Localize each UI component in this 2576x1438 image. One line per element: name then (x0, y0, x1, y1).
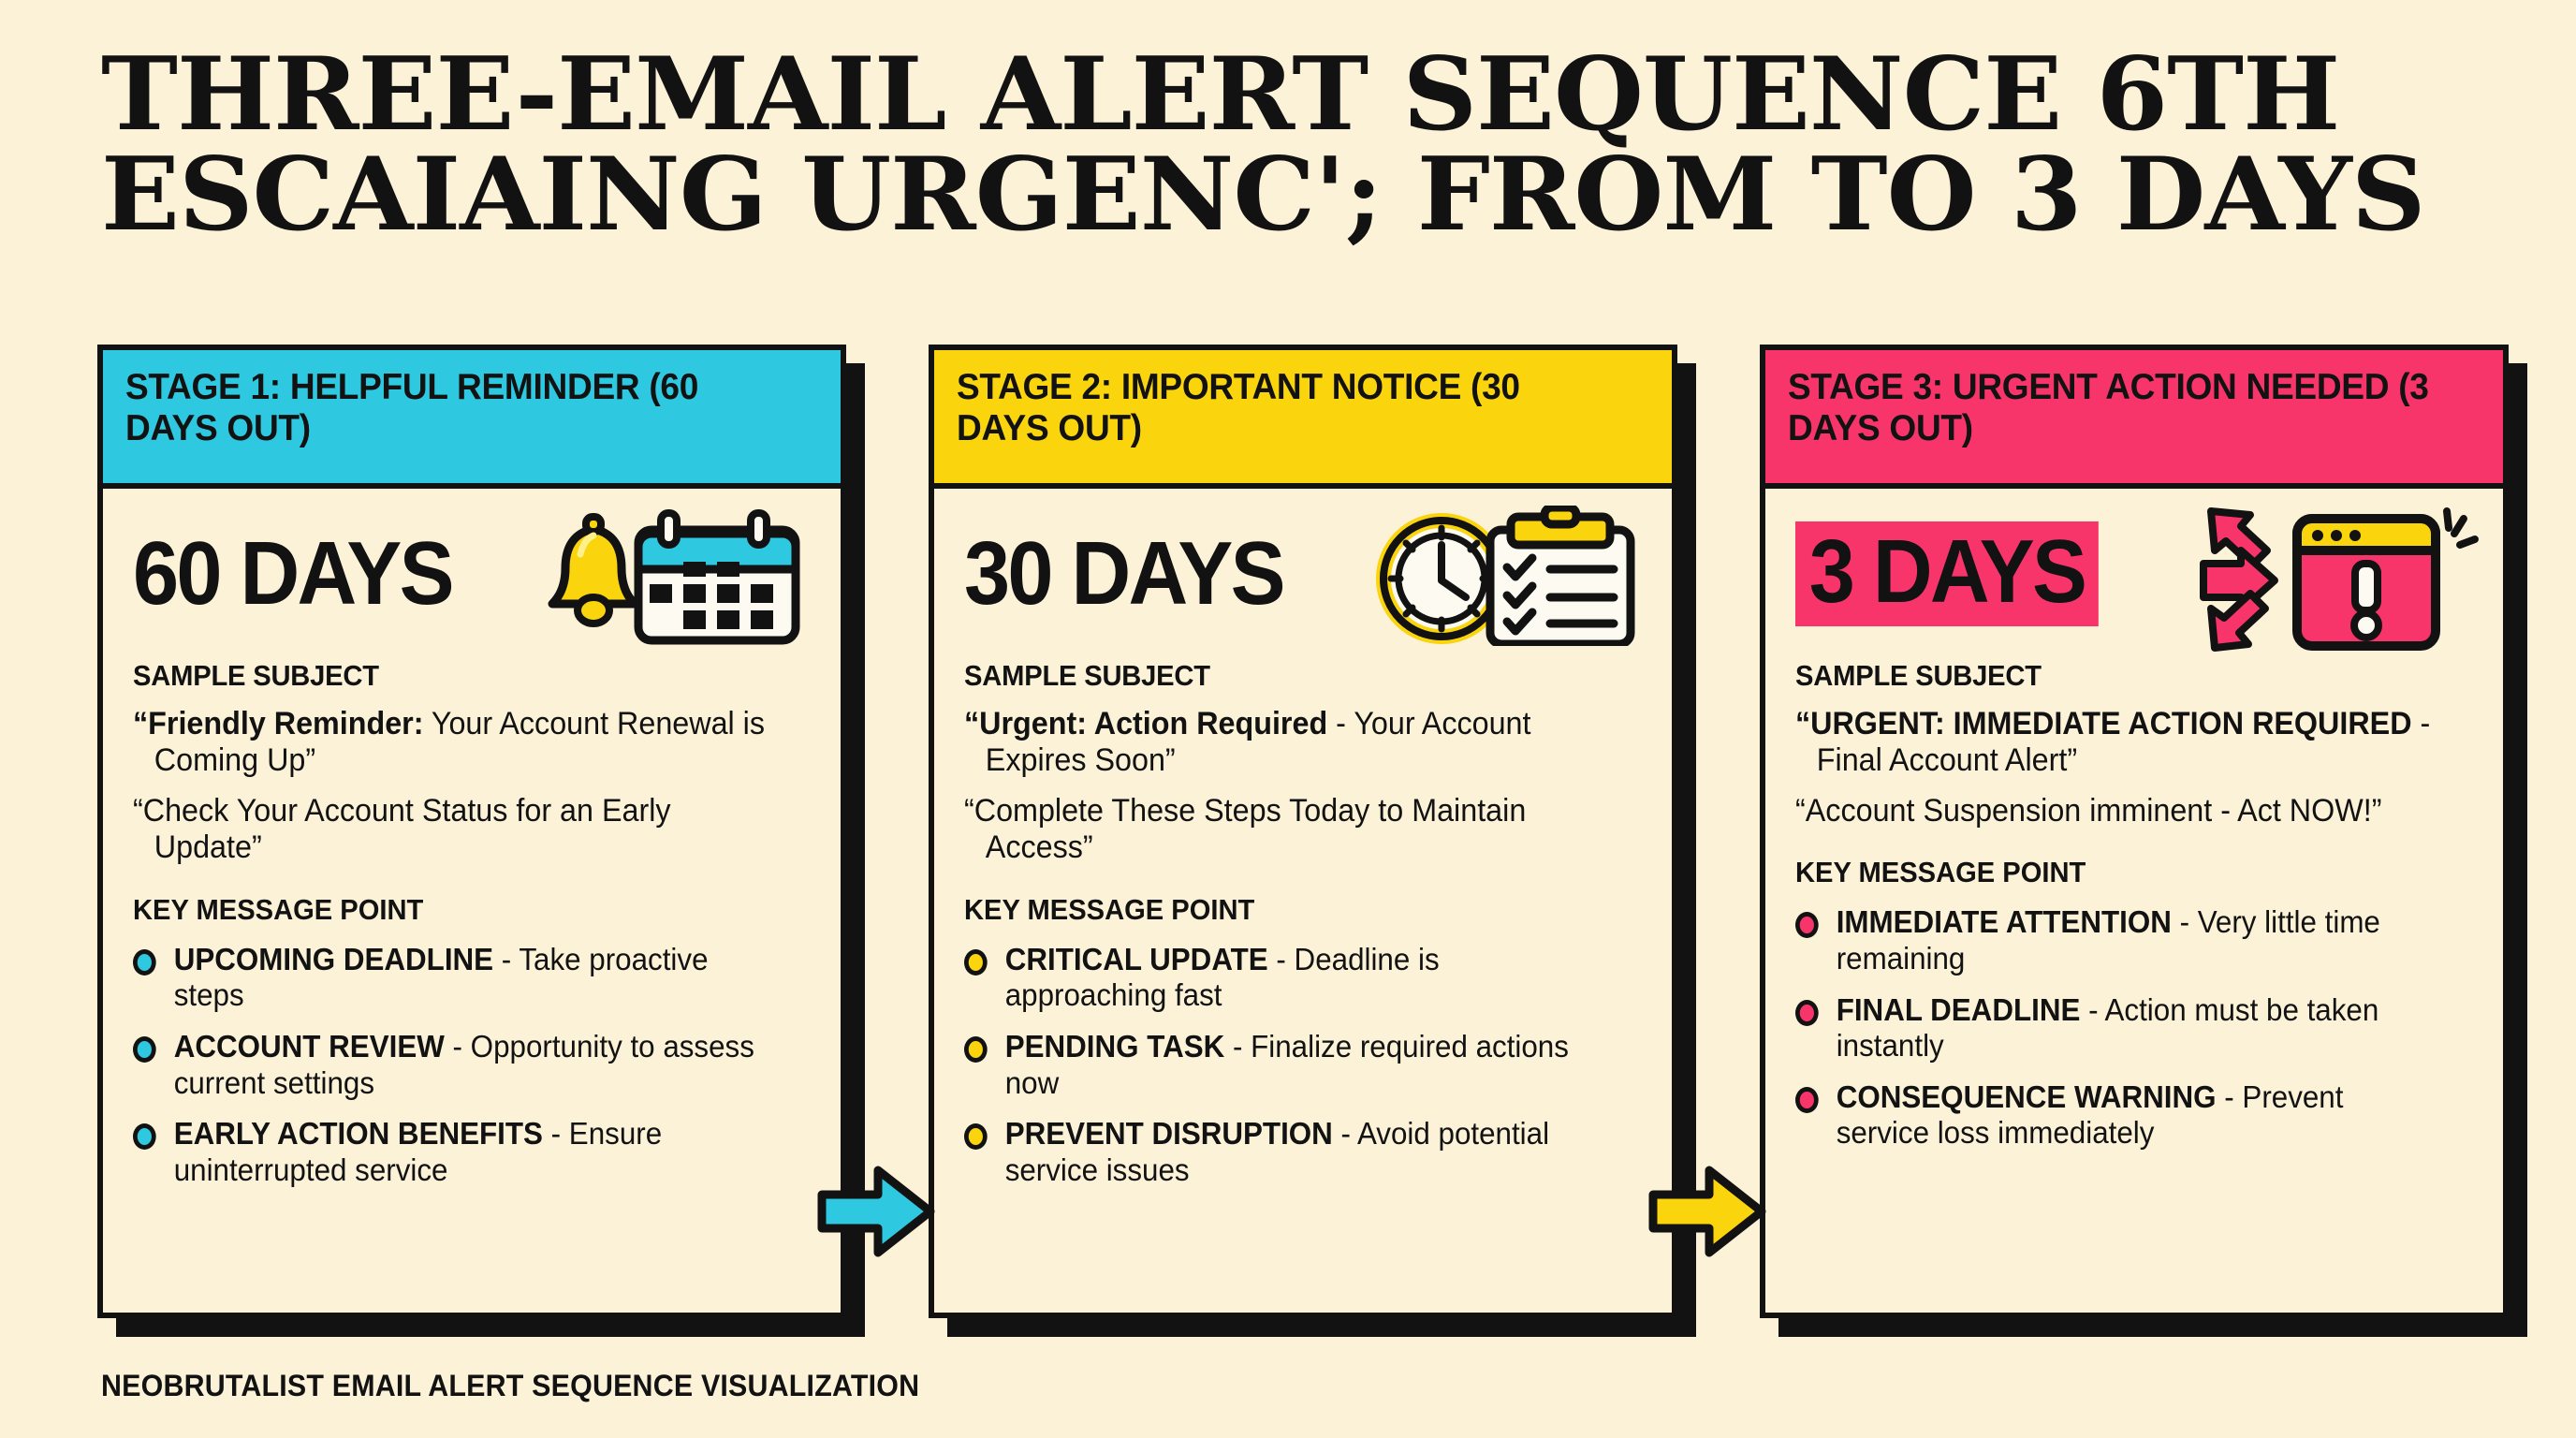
stage-card-1-body: 60 DAYS (103, 489, 841, 1313)
stage-card-3-header-text: STAGE 3: URGENT ACTION NEEDED (3 DAYS OU… (1788, 367, 2446, 448)
stage-card-3-subject-1: “URGENT: IMMEDIATE ACTION REQUIRED - Fin… (1795, 706, 2439, 780)
bullet-term: CRITICAL UPDATE (1005, 942, 1268, 976)
stage-card-1-subject-2: “Check Your Account Status for an Early … (133, 793, 777, 867)
stage-card-2-header-text: STAGE 2: IMPORTANT NOTICE (30 DAYS OUT) (957, 367, 1615, 448)
list-item: ACCOUNT REVIEW - Opportunity to assess c… (133, 1029, 777, 1101)
page-title: THREE-EMAIL ALERT SEQUENCE 6TH ESCAIAING… (101, 45, 2497, 245)
stage-card-3-subject-1-bold: “URGENT: IMMEDIATE ACTION REQUIRED (1795, 706, 2412, 741)
list-item: IMMEDIATE ATTENTION - Very little time r… (1795, 904, 2439, 976)
bullet-term: ACCOUNT REVIEW (174, 1029, 445, 1064)
list-item: PREVENT DISRUPTION - Avoid potential ser… (964, 1116, 1608, 1188)
bullet-dot-icon (1795, 912, 1819, 938)
stage-card-1-sample-subject-label: SAMPLE SUBJECT (133, 659, 770, 693)
title-line-2: ESCAIAING URGENC'; FROM TO 3 DAYS (101, 145, 2545, 245)
arrow-stage1-to-stage2 (816, 1155, 938, 1268)
stage-card-2-body: 30 DAYS (934, 489, 1672, 1313)
stage-card-1[interactable]: STAGE 1: HELPFUL REMINDER (60 DAYS OUT) … (97, 345, 846, 1318)
list-item: CRITICAL UPDATE - Deadline is approachin… (964, 942, 1608, 1014)
bullet-term: IMMEDIATE ATTENTION (1837, 904, 2172, 939)
stage-card-2-header: STAGE 2: IMPORTANT NOTICE (30 DAYS OUT) (934, 350, 1672, 489)
list-item: FINAL DEADLINE - Action must be taken in… (1795, 992, 2439, 1064)
list-item: PENDING TASK - Finalize required actions… (964, 1029, 1608, 1101)
bullet-dot-icon (1795, 1087, 1819, 1113)
stage-card-3-subject-2-rest: “Account Suspension imminent - Act NOW!” (1795, 793, 2381, 829)
stage-card-3-bignum-row: 3 DAYS (1795, 513, 2473, 635)
stage-card-1-bignum-row: 60 DAYS (133, 513, 811, 635)
stage-card-3-icons (2200, 506, 2481, 660)
stage-card-3-body: 3 DAYS (1765, 489, 2503, 1313)
bullet-term: UPCOMING DEADLINE (174, 942, 493, 976)
bullet-term: PENDING TASK (1005, 1029, 1225, 1064)
infographic-canvas: THREE-EMAIL ALERT SEQUENCE 6TH ESCAIAING… (0, 0, 2576, 1438)
stage-card-2-kmp-label: KEY MESSAGE POINT (964, 893, 1602, 927)
arrows-converging-icon (2203, 511, 2275, 648)
stage-card-1-subject-1: “Friendly Reminder: Your Account Renewal… (133, 706, 777, 780)
bullet-dot-icon (964, 1036, 988, 1063)
bullet-term: PREVENT DISRUPTION (1005, 1116, 1333, 1151)
stage-card-3-kmp-label: KEY MESSAGE POINT (1795, 856, 2433, 889)
stage-card-3-bullets: IMMEDIATE ATTENTION - Very little time r… (1795, 904, 2473, 1152)
bullet-dot-icon (133, 949, 156, 976)
stage-card-2[interactable]: STAGE 2: IMPORTANT NOTICE (30 DAYS OUT) … (929, 345, 1677, 1318)
stage-card-3-header: STAGE 3: URGENT ACTION NEEDED (3 DAYS OU… (1765, 350, 2503, 489)
stage-card-2-bignum-row: 30 DAYS (964, 513, 1642, 635)
stage-card-1-header-text: STAGE 1: HELPFUL REMINDER (60 DAYS OUT) (125, 367, 783, 448)
stage-card-3-sample-subject-label: SAMPLE SUBJECT (1795, 659, 2433, 693)
stage-card-2-subject-2: “Complete These Steps Today to Maintain … (964, 793, 1608, 867)
bullet-dot-icon (133, 1036, 156, 1063)
alert-motion-lines-icon (2447, 511, 2475, 545)
bullet-term: EARLY ACTION BENEFITS (174, 1116, 543, 1151)
calendar-icon (638, 513, 796, 640)
stage-card-1-header: STAGE 1: HELPFUL REMINDER (60 DAYS OUT) (103, 350, 841, 489)
stage-card-2-bullets: CRITICAL UPDATE - Deadline is approachin… (964, 942, 1642, 1189)
clipboard-checklist-icon (1490, 507, 1631, 644)
bullet-dot-icon (964, 1123, 988, 1150)
stage-card-2-subject-2-rest: “Complete These Steps Today to Maintain … (964, 793, 1526, 865)
list-item: CONSEQUENCE WARNING - Prevent service lo… (1795, 1079, 2439, 1152)
bullet-term: CONSEQUENCE WARNING (1837, 1079, 2217, 1114)
stage-card-2-sample-subject-label: SAMPLE SUBJECT (964, 659, 1602, 693)
arrow-stage2-to-stage3 (1647, 1155, 1769, 1268)
stage-card-1-kmp-label: KEY MESSAGE POINT (133, 893, 770, 927)
stage-card-1-subject-2-rest: “Check Your Account Status for an Early … (133, 793, 671, 865)
stage-card-1-subject-1-bold: “Friendly Reminder: (133, 706, 424, 741)
clock-icon (1383, 521, 1500, 637)
stage-card-2-subject-1-bold: “Urgent: Action Required (964, 706, 1327, 741)
list-item: EARLY ACTION BENEFITS - Ensure uninterru… (133, 1116, 777, 1188)
bullet-term: FINAL DEADLINE (1837, 992, 2081, 1027)
stage-cards-row: STAGE 1: HELPFUL REMINDER (60 DAYS OUT) … (0, 345, 2576, 1356)
stage-card-1-icons (537, 506, 818, 651)
alert-window-icon (2297, 519, 2436, 646)
stage-card-3-big-number: 3 DAYS (1795, 521, 2099, 626)
bullet-dot-icon (1795, 1000, 1819, 1026)
title-line-1: THREE-EMAIL ALERT SEQUENCE 6TH (101, 45, 2545, 145)
stage-card-1-bullets: UPCOMING DEADLINE - Take proactive steps… (133, 942, 811, 1189)
stage-card-2-big-number: 30 DAYS (964, 529, 1283, 619)
stage-card-2-subject-1: “Urgent: Action Required - Your Account … (964, 706, 1608, 780)
stage-card-2-icons (1368, 506, 1649, 651)
stage-card-1-big-number: 60 DAYS (133, 529, 452, 619)
footer-caption: NEOBRUTALIST EMAIL ALERT SEQUENCE VISUAL… (101, 1369, 919, 1403)
stage-card-3[interactable]: STAGE 3: URGENT ACTION NEEDED (3 DAYS OU… (1760, 345, 2509, 1318)
stage-card-3-subject-2: “Account Suspension imminent - Act NOW!” (1795, 793, 2439, 829)
bullet-dot-icon (964, 949, 988, 976)
list-item: UPCOMING DEADLINE - Take proactive steps (133, 942, 777, 1014)
bell-icon (552, 517, 635, 624)
bullet-dot-icon (133, 1123, 156, 1150)
